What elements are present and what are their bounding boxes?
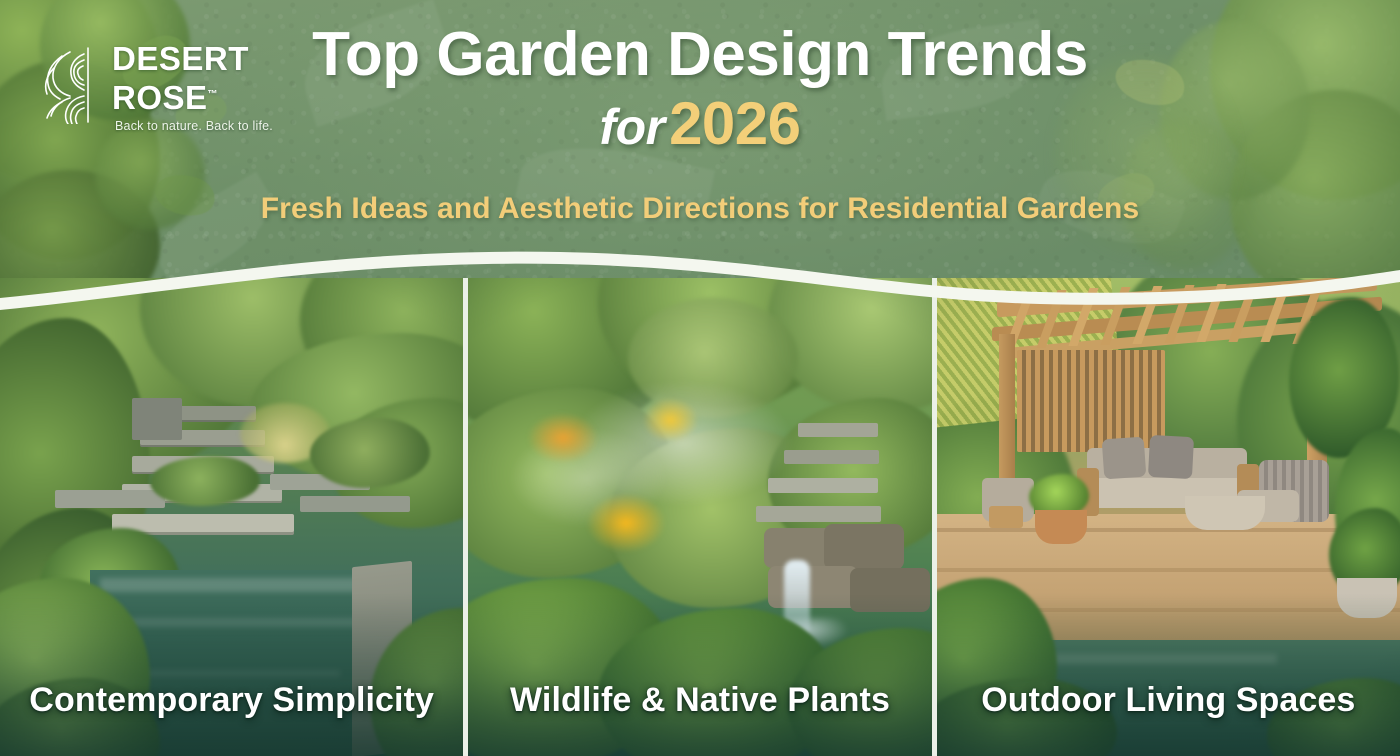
card-label-outdoor-living-spaces: Outdoor Living Spaces: [937, 681, 1400, 720]
brand-name-line1: DESERT: [112, 42, 273, 75]
poster-root: DESERT ROSE™ Back to nature. Back to lif…: [0, 0, 1400, 756]
brand-name-line2: ROSE™: [112, 78, 273, 114]
card-label-wildlife-native-plants: Wildlife & Native Plants: [468, 681, 931, 720]
trend-card-outdoor-living-spaces[interactable]: Outdoor Living Spaces: [932, 278, 1400, 756]
trend-card-contemporary-simplicity[interactable]: Contemporary Simplicity: [0, 278, 463, 756]
card-label-contemporary-simplicity: Contemporary Simplicity: [0, 681, 463, 720]
trend-card-wildlife-native-plants[interactable]: Wildlife & Native Plants: [463, 278, 931, 756]
trademark-symbol: ™: [208, 89, 218, 100]
page-subtitle: Fresh Ideas and Aesthetic Directions for…: [0, 192, 1400, 226]
title-year: 2026: [669, 90, 800, 157]
trend-card-strip: Contemporary Simplicity: [0, 278, 1400, 756]
title-for-word: for: [599, 99, 664, 155]
brand-logo[interactable]: DESERT ROSE™ Back to nature. Back to lif…: [44, 42, 304, 134]
brand-tagline: Back to nature. Back to life.: [115, 119, 273, 133]
topographic-contour-icon: [44, 46, 106, 124]
brand-wordmark: DESERT ROSE™ Back to nature. Back to lif…: [112, 42, 273, 133]
